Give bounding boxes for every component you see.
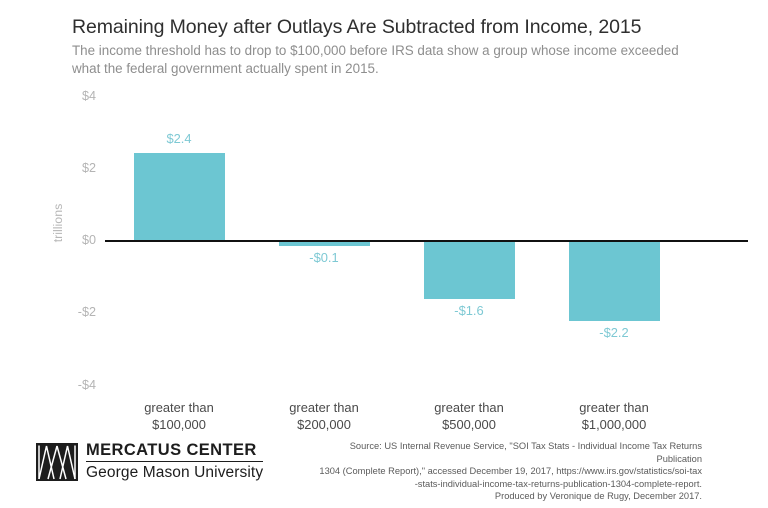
logo-line-1: MERCATUS CENTER xyxy=(86,441,263,462)
y-tick-label: $2 xyxy=(50,161,96,175)
x-category-line: greater than xyxy=(434,399,504,416)
x-category-line: $200,000 xyxy=(289,416,359,433)
y-tick-label: $0 xyxy=(50,233,96,247)
x-category-line: greater than xyxy=(579,399,649,416)
x-category-line: greater than xyxy=(289,399,359,416)
x-category-line: $500,000 xyxy=(434,416,504,433)
bar-value-label-2: -$1.6 xyxy=(454,303,483,318)
bar-2[interactable] xyxy=(424,241,515,299)
bar-value-label-1: -$0.1 xyxy=(309,250,338,265)
bar-0[interactable] xyxy=(134,153,225,240)
x-category-line: $1,000,000 xyxy=(579,416,649,433)
y-tick-label: -$2 xyxy=(50,305,96,319)
logo-wordmark: MERCATUS CENTER George Mason University xyxy=(86,441,263,482)
x-category-line: greater than xyxy=(144,399,214,416)
chart-figure: Remaining Money after Outlays Are Subtra… xyxy=(0,0,768,508)
x-category-label-1: greater than $200,000 xyxy=(289,399,359,433)
logo-line-2: George Mason University xyxy=(86,462,263,482)
source-line: Source: US Internal Revenue Service, "SO… xyxy=(302,440,702,465)
bar-1[interactable] xyxy=(279,241,370,246)
source-note: Source: US Internal Revenue Service, "SO… xyxy=(302,440,702,503)
bar-value-label-0: $2.4 xyxy=(166,131,191,146)
source-line: Produced by Veronique de Rugy, December … xyxy=(302,490,702,503)
x-category-label-3: greater than $1,000,000 xyxy=(579,399,649,433)
bar-3[interactable] xyxy=(569,241,660,321)
bar-value-label-3: -$2.2 xyxy=(599,325,628,340)
y-tick-label: $4 xyxy=(50,89,96,103)
source-line: -stats-individual-income-tax-returns-pub… xyxy=(302,478,702,491)
source-line: 1304 (Complete Report)," accessed Decemb… xyxy=(302,465,702,478)
x-category-label-0: greater than $100,000 xyxy=(144,399,214,433)
y-tick-label: -$4 xyxy=(50,378,96,392)
zero-baseline xyxy=(105,240,748,242)
mercatus-m-mark-icon xyxy=(36,443,78,481)
plot-area: trillions $4 $2 $0 -$2 -$4 $2.4 -$0.1 -$… xyxy=(0,0,768,440)
mercatus-logo: MERCATUS CENTER George Mason University xyxy=(36,441,263,482)
x-category-line: $100,000 xyxy=(144,416,214,433)
x-category-label-2: greater than $500,000 xyxy=(434,399,504,433)
